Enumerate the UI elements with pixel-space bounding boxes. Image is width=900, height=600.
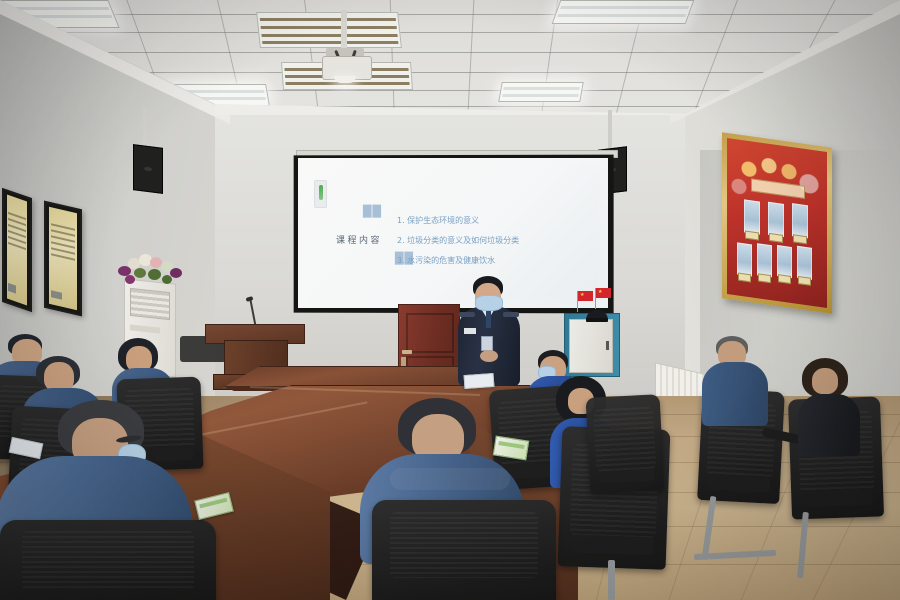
office-chair[interactable] <box>372 500 556 600</box>
presenter-epaulette <box>459 312 475 317</box>
projector-lens-icon <box>334 76 356 83</box>
slide-item: 2. 垃圾分类的意义及如何垃圾分类 <box>397 231 547 251</box>
slide-quote-mark-top: ██ <box>363 205 382 218</box>
honor-photo <box>768 201 784 236</box>
police-cap <box>586 310 608 322</box>
ceiling-light-panel <box>498 82 584 102</box>
slide-heading: 课程内容 <box>336 233 382 246</box>
door-handle[interactable] <box>402 350 412 354</box>
presenter-epaulette <box>503 312 519 317</box>
cabinet-handle[interactable] <box>606 341 609 350</box>
ceiling-light-panel <box>256 12 402 48</box>
wall-speaker-left <box>133 144 163 194</box>
meeting-room-photo: ██ 课程内容 ██ 1. 保护生态环境的意义 2. 垃圾分类的意义及如何垃圾分… <box>0 0 900 600</box>
office-chair[interactable] <box>0 520 216 600</box>
honor-photo <box>757 244 772 278</box>
police-officer-presenter <box>456 276 522 386</box>
door-panel <box>406 313 454 353</box>
honor-photo <box>744 200 760 235</box>
speaker-mount <box>608 110 612 150</box>
presenter-tie <box>486 311 491 328</box>
projector-mount-pole <box>341 10 347 52</box>
slide-item: 3. 水污染的危害及健康饮水 <box>397 251 547 271</box>
honor-board-title-plate <box>751 179 805 199</box>
papers[interactable] <box>464 373 495 389</box>
door-lock-icon <box>401 357 406 367</box>
honor-photo <box>737 242 752 276</box>
presenter-hands <box>480 350 498 362</box>
slide-logo-icon <box>314 180 327 208</box>
honor-photo <box>797 246 812 280</box>
presenter-id-card <box>481 336 493 351</box>
honor-photo <box>792 203 808 238</box>
honor-photo <box>777 245 792 279</box>
slide-item: 1. 保护生态环境的意义 <box>397 211 547 231</box>
office-chair[interactable] <box>586 394 665 494</box>
jacket-hood <box>390 468 510 490</box>
speaker-mount <box>143 108 147 150</box>
honor-board-background <box>727 138 827 308</box>
certificate-frame-left <box>2 188 32 312</box>
presenter-badge <box>464 328 476 334</box>
slide-item-list: 1. 保护生态环境的意义 2. 垃圾分类的意义及如何垃圾分类 3. 水污染的危害… <box>397 211 547 271</box>
face-mask <box>475 295 503 311</box>
flower-arrangement <box>112 252 192 288</box>
certificate-frame-right <box>44 201 82 317</box>
honor-display-board <box>722 132 832 313</box>
air-conditioner-vent <box>130 288 170 320</box>
ceiling-light-panel <box>552 0 695 24</box>
chair-leg <box>608 560 615 600</box>
